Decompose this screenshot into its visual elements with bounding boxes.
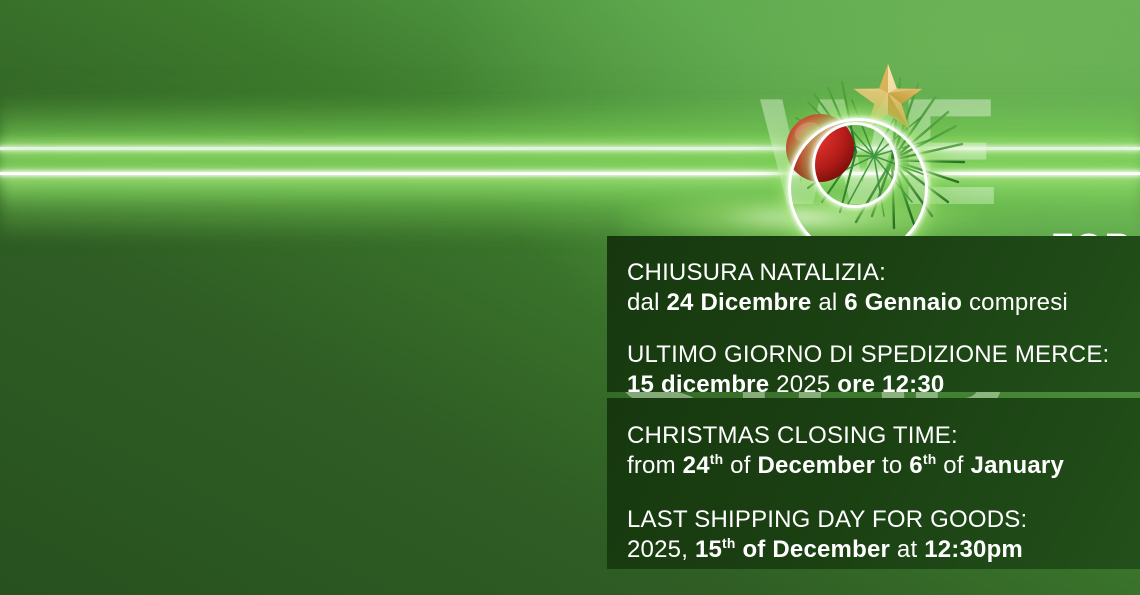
info-panel-english: CHRISTMAS CLOSING TIME: from 24th of Dec… (607, 398, 1140, 569)
closure-detail-it-pre: dal (627, 289, 667, 316)
closure-detail-en-of1: of (723, 452, 757, 479)
closure-start-day-ord-en: th (710, 451, 724, 467)
closure-detail-en-of2: of (936, 452, 970, 479)
shipping-month-en: of December (736, 536, 890, 563)
closure-detail-en: from 24th of December to 6th of January (627, 451, 1140, 481)
shipping-day-en: 15th of December (695, 536, 890, 563)
shipping-block-en: LAST SHIPPING DAY FOR GOODS: 2025, 15th … (607, 481, 1140, 565)
closure-end-month-en: January (971, 452, 1064, 479)
shipping-year-en: 2025, (627, 536, 695, 563)
closure-heading-en: CHRISTMAS CLOSING TIME: (627, 421, 1140, 451)
closure-start-month-en: December (757, 452, 875, 479)
shipping-detail-it: 15 dicembre 2025 ore 12:30 (627, 370, 1140, 400)
shipping-block-it: ULTIMO GIORNO DI SPEDIZIONE MERCE: 15 di… (607, 318, 1140, 400)
closure-heading-it: CHIUSURA NATALIZIA: (627, 258, 1140, 288)
shipping-day-num-en: 15 (695, 536, 722, 563)
shipping-detail-en-at: at (890, 536, 924, 563)
closure-block-it: CHIUSURA NATALIZIA: dal 24 Dicembre al 6… (607, 236, 1140, 318)
shipping-detail-en: 2025, 15th of December at 12:30pm (627, 535, 1140, 565)
closure-end-day-num-en: 6 (909, 452, 923, 479)
shipping-date-it: 15 dicembre (627, 371, 769, 398)
closure-detail-it: dal 24 Dicembre al 6 Gennaio compresi (627, 288, 1140, 318)
closure-end-day-ord-en: th (923, 451, 937, 467)
shipping-day-ord-en: th (722, 535, 736, 551)
shipping-year-it: 2025 (769, 371, 837, 398)
closure-end-day-en: 6th (909, 452, 936, 479)
closure-detail-en-to: to (875, 452, 909, 479)
shipping-heading-en: LAST SHIPPING DAY FOR GOODS: (627, 505, 1140, 535)
christmas-closure-banner: WE STOP (0, 0, 1140, 595)
closure-end-date-it: 6 Gennaio (844, 289, 962, 316)
shipping-heading-it: ULTIMO GIORNO DI SPEDIZIONE MERCE: (627, 340, 1140, 370)
closure-start-day-en: 24th (683, 452, 724, 479)
shipping-time-it: ore 12:30 (837, 371, 944, 398)
closure-detail-en-pre: from (627, 452, 683, 479)
closure-detail-it-mid: al (811, 289, 844, 316)
closure-start-day-num-en: 24 (683, 452, 710, 479)
info-panel-italian: CHIUSURA NATALIZIA: dal 24 Dicembre al 6… (607, 236, 1140, 392)
closure-block-en: CHRISTMAS CLOSING TIME: from 24th of Dec… (607, 398, 1140, 481)
closure-detail-it-post: compresi (962, 289, 1068, 316)
shipping-time-en: 12:30pm (924, 536, 1023, 563)
closure-start-date-it: 24 Dicembre (667, 289, 812, 316)
